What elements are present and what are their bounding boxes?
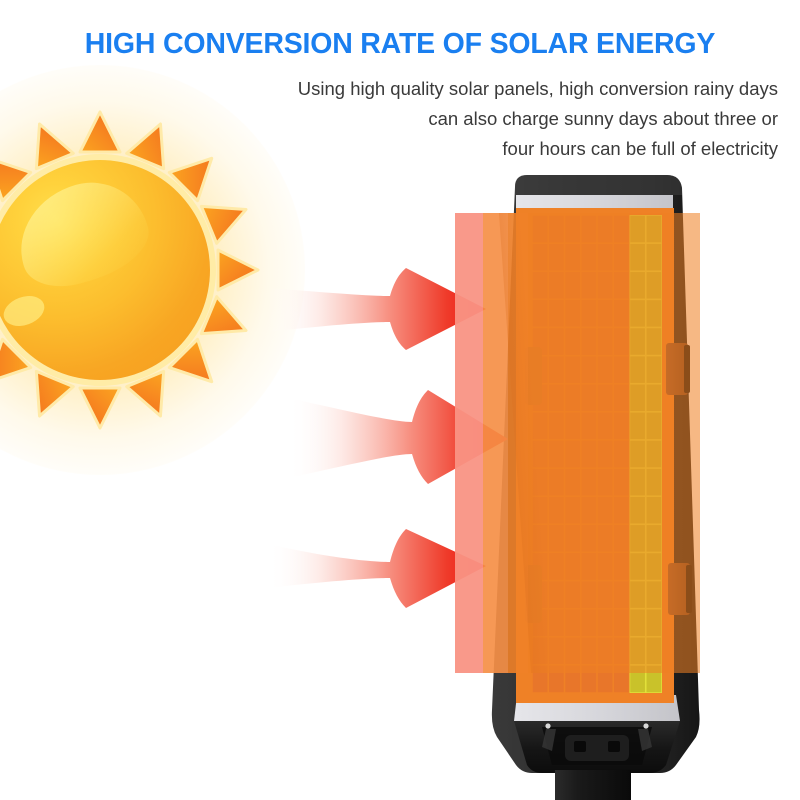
lamp-screw-right <box>643 723 648 728</box>
lamp-bracket-bolt-right <box>608 741 620 752</box>
lamp-pole <box>555 770 631 800</box>
page-subtitle: Using high quality solar panels, high co… <box>178 74 778 164</box>
subtitle-line-2: can also charge sunny days about three o… <box>178 104 778 134</box>
subtitle-line-1: Using high quality solar panels, high co… <box>178 74 778 104</box>
light-absorption-overlay <box>455 213 700 673</box>
illustration-canvas: HIGH CONVERSION RATE OF SOLAR ENERGY Usi… <box>0 0 800 800</box>
overlay-band-salmon <box>455 213 483 673</box>
lamp-bracket-bolt-left <box>574 741 586 752</box>
overlay-band-deep-orange <box>528 213 700 673</box>
page-title: HIGH CONVERSION RATE OF SOLAR ENERGY <box>0 28 800 61</box>
subtitle-line-3: four hours can be full of electricity <box>178 134 778 164</box>
lamp-screw-left <box>545 723 550 728</box>
lamp-top-highlight <box>515 175 682 195</box>
